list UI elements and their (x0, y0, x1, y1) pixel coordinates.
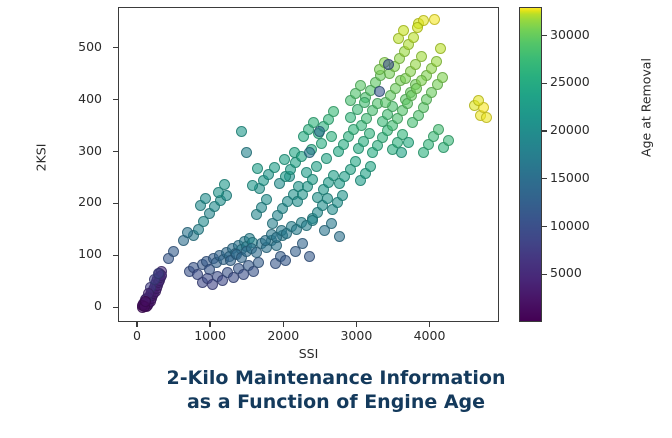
colorbar-tick (542, 178, 547, 179)
scatter-point (429, 14, 440, 25)
chart-title: 2-Kilo Maintenance Information as a Func… (0, 366, 672, 415)
x-axis-tick-label: 3000 (326, 330, 386, 343)
y-axis-tick (113, 255, 118, 256)
scatter-point (337, 190, 348, 201)
y-axis-tick (113, 47, 118, 48)
x-axis-tick (283, 322, 284, 327)
scatter-point (297, 238, 308, 249)
colorbar-tick-label: 20000 (550, 124, 590, 137)
colorbar-tick (542, 226, 547, 227)
scatter-point (350, 156, 361, 167)
scatter-points-layer (119, 8, 498, 321)
colorbar-tick-label: 15000 (550, 172, 590, 185)
scatter-point (403, 137, 414, 148)
scatter-point (304, 147, 315, 158)
colorbar-tick-label: 5000 (550, 267, 582, 280)
scatter-point (326, 218, 337, 229)
y-axis-tick-label: 0 (62, 300, 102, 313)
chart-title-line-1: 2-Kilo Maintenance Information (0, 366, 672, 390)
x-axis-tick (356, 322, 357, 327)
scatter-point (364, 128, 375, 139)
scatter-point (307, 174, 318, 185)
scatter-point (252, 163, 263, 174)
scatter-point (200, 193, 211, 204)
scatter-point (435, 43, 446, 54)
x-axis-tick-label: 0 (107, 330, 167, 343)
scatter-point (334, 231, 345, 242)
colorbar-tick (542, 274, 547, 275)
scatter-point (433, 124, 444, 135)
scatter-point (374, 86, 385, 97)
scatter-point (269, 162, 280, 173)
scatter-point (311, 161, 322, 172)
x-axis-tick (429, 322, 430, 327)
scatter-point (168, 246, 179, 257)
y-axis-tick-label: 200 (62, 196, 102, 209)
scatter-point (314, 126, 325, 137)
colorbar-tick (542, 35, 547, 36)
scatter-point (253, 257, 264, 268)
y-axis-tick (113, 151, 118, 152)
plot-area (118, 7, 499, 322)
scatter-point (153, 268, 164, 279)
x-axis-label: SSI (118, 346, 499, 361)
scatter-point (328, 106, 339, 117)
scatter-point (219, 179, 230, 190)
scatter-point (365, 161, 376, 172)
scatter-point (247, 180, 258, 191)
colorbar-tick-label: 30000 (550, 29, 590, 42)
scatter-point (261, 194, 272, 205)
x-axis-tick (136, 322, 137, 327)
colorbar: 50001000015000200002500030000 (519, 7, 542, 322)
y-axis-tick-label: 300 (62, 145, 102, 158)
scatter-point (140, 296, 151, 307)
scatter-point (383, 59, 394, 70)
y-axis-label: 2KSI (34, 113, 49, 203)
colorbar-label: Age at Removal (639, 28, 654, 188)
scatter-point (321, 153, 332, 164)
colorbar-tick (542, 83, 547, 84)
scatter-point (396, 147, 407, 158)
y-axis-tick (113, 307, 118, 308)
scatter-point (481, 112, 492, 123)
y-axis-tick (113, 99, 118, 100)
y-axis-tick-label: 100 (62, 248, 102, 261)
scatter-point (437, 72, 448, 83)
scatter-chart-figure: 0100200300400500 2KSI 01000200030004000 … (0, 0, 672, 438)
scatter-point (443, 135, 454, 146)
x-axis-tick (209, 322, 210, 327)
chart-title-line-2: as a Function of Engine Age (0, 390, 672, 414)
scatter-point (304, 251, 315, 262)
x-axis-tick-label: 2000 (253, 330, 313, 343)
y-axis-tick (113, 203, 118, 204)
scatter-point (326, 131, 337, 142)
colorbar-gradient (519, 7, 542, 322)
scatter-point (241, 147, 252, 158)
scatter-point (412, 22, 423, 33)
x-axis-tick-label: 4000 (400, 330, 460, 343)
scatter-point (416, 75, 427, 86)
colorbar-tick-label: 25000 (550, 76, 590, 89)
scatter-point (280, 255, 291, 266)
scatter-point (416, 51, 427, 62)
scatter-point (316, 138, 327, 149)
x-axis-tick-label: 1000 (180, 330, 240, 343)
colorbar-tick-label: 10000 (550, 220, 590, 233)
scatter-point (431, 56, 442, 67)
scatter-point (236, 126, 247, 137)
scatter-point (408, 32, 419, 43)
y-axis-tick-label: 500 (62, 41, 102, 54)
colorbar-tick (542, 130, 547, 131)
y-axis-tick-label: 400 (62, 93, 102, 106)
